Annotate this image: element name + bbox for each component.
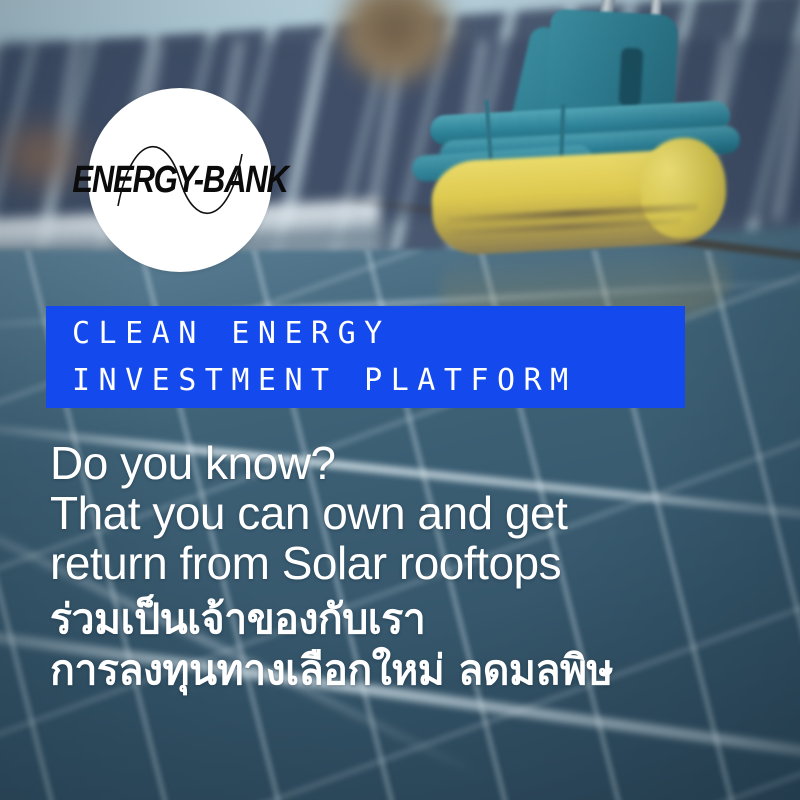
banner-line-2: INVESTMENT PLATFORM: [46, 357, 685, 404]
logo-wordmark: ENERGY-BANK: [72, 158, 287, 202]
promo-poster: ENERGY-BANK CLEAN ENERGY INVESTMENT PLAT…: [0, 0, 800, 800]
energy-bank-logo[interactable]: ENERGY-BANK: [88, 88, 272, 272]
clean-energy-banner: CLEAN ENERGY INVESTMENT PLATFORM: [46, 306, 685, 408]
headline-en-line-1: Do you know?: [50, 438, 750, 488]
headline-en-line-3: return from Solar rooftops: [50, 538, 750, 588]
headline-en-line-2: That you can own and get: [50, 488, 750, 538]
headline-th-line-1: ร่วมเป็นเจ้าของกับเรา: [50, 594, 750, 645]
headline-copy: Do you know? That you can own and get re…: [50, 438, 750, 696]
banner-line-1: CLEAN ENERGY: [46, 310, 685, 357]
headline-th-line-2: การลงทุนทางเลือกใหม่ ลดมลพิษ: [50, 645, 750, 696]
